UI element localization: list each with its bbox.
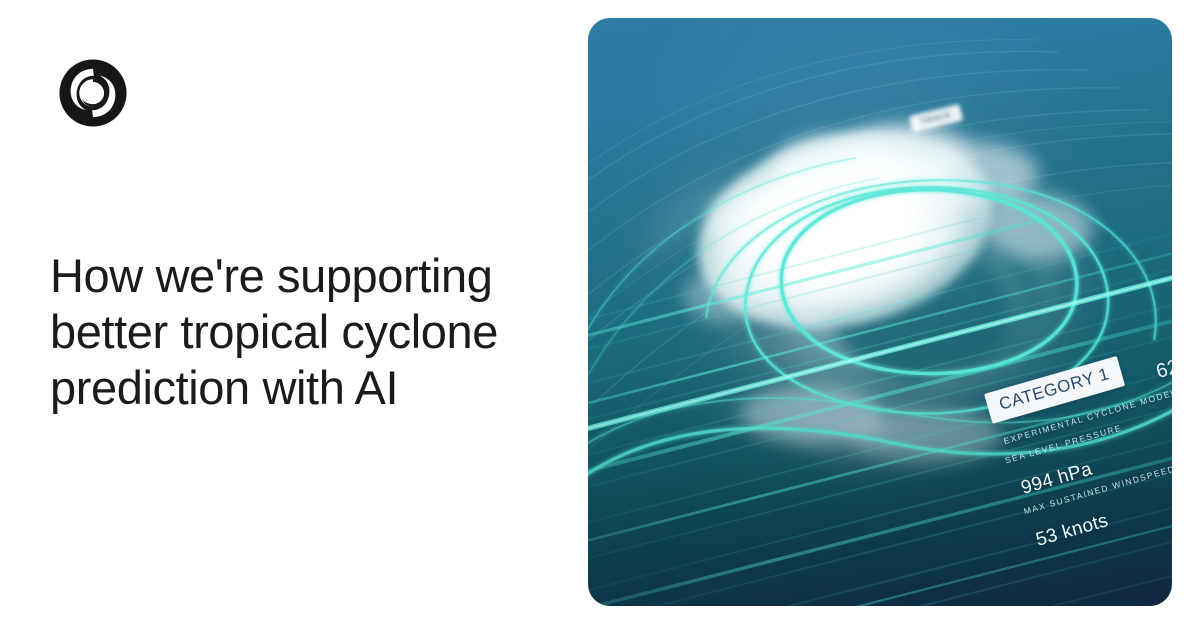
windspeed-caption: MAX SUSTAINED WINDSPEED (1023, 463, 1172, 516)
cyclone-eye-glow (676, 101, 1013, 358)
cyclone-hud-readout: CATEGORY 1 62.4% EXPERIMENTAL CYCLONE MO… (984, 336, 1172, 554)
hero-image-container: TRACK CATEGORY 1 62.4% EXPERIMENTAL CYCL… (588, 18, 1172, 606)
pressure-caption: SEA LEVEL PRESSURE (1004, 423, 1123, 466)
probability-value: 62.4% (1154, 346, 1172, 384)
diagonal-data-streaks (588, 218, 1172, 606)
sky-arc-lines (588, 18, 1172, 606)
cyan-contour-rings (588, 18, 1172, 606)
social-card: How we're supporting better tropical cyc… (0, 0, 1200, 630)
blurred-track-tag: TRACK (909, 104, 963, 133)
page-title: How we're supporting better tropical cyc… (50, 248, 520, 416)
left-content-panel: How we're supporting better tropical cyc… (0, 0, 588, 630)
cyclone-visualization: TRACK CATEGORY 1 62.4% EXPERIMENTAL CYCL… (588, 18, 1172, 606)
pressure-value: 994 hPa (1019, 459, 1095, 499)
google-deepmind-swirl-logo (50, 50, 136, 136)
windspeed-value: 53 knots (1034, 510, 1111, 551)
model-caption: EXPERIMENTAL CYCLONE MODEL (1002, 387, 1172, 446)
image-vignette (588, 18, 1172, 606)
cyclone-cloud-bands (588, 53, 1172, 500)
status-badge-category: CATEGORY 1 (984, 356, 1125, 424)
